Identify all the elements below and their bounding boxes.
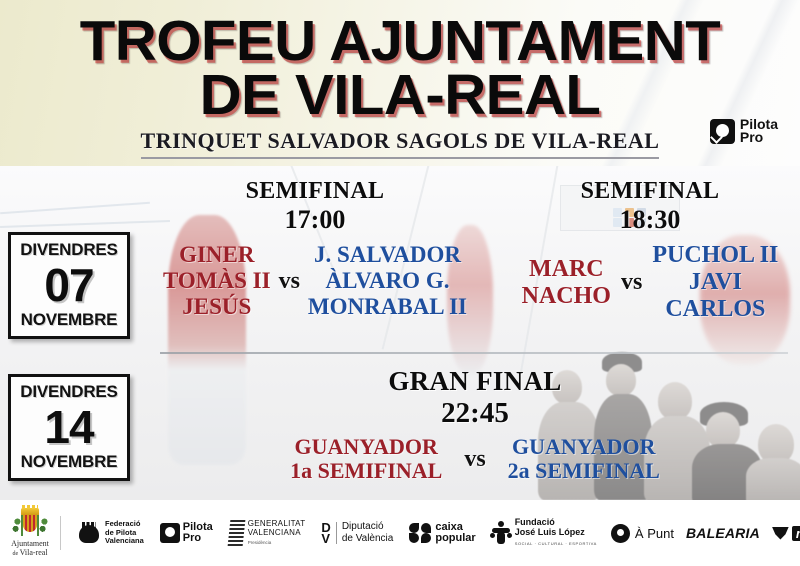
- semifinal-1-team-red: GINER TOMÀS II JESÚS: [163, 242, 271, 320]
- federacio-label: Federació de Pilota Valenciana: [105, 520, 144, 546]
- player-name: JAVI: [652, 269, 778, 296]
- final-team-blue: GUANYADOR 2a SEMIFINAL: [508, 435, 660, 483]
- semifinal-1-time: 17:00: [140, 205, 490, 235]
- pilota-pro-icon: [710, 119, 735, 144]
- caixa-popular-icon: [409, 523, 431, 543]
- player-name: GUANYADOR: [508, 435, 660, 459]
- pilota-pro-small-label: Pilota Pro: [183, 522, 213, 544]
- semifinal-1-vs: vs: [279, 268, 300, 295]
- semifinal-2-time: 18:30: [500, 205, 800, 235]
- player-name: MONRABAL II: [308, 294, 467, 320]
- player-name: PUCHOL II: [652, 242, 778, 269]
- section-divider: [160, 352, 788, 354]
- semifinal-1-round: SEMIFINAL: [140, 178, 490, 205]
- sponsor-federacio-pilota-valenciana: Federació de Pilota Valenciana: [77, 520, 144, 546]
- sponsor-pilota-pro: Pilota Pro: [160, 522, 213, 544]
- player-name: ÀLVARO G.: [308, 268, 467, 294]
- semifinal-2-team-blue: PUCHOL II JAVI CARLOS: [652, 242, 778, 323]
- semifinal-2-vs: vs: [621, 269, 642, 296]
- fundacio-figures-icon: [490, 521, 512, 545]
- pilota-pro-small-icon: [160, 523, 180, 543]
- semifinal-1-team-blue: J. SALVADOR ÀLVARO G. MONRABAL II: [308, 242, 467, 320]
- semifinal-2-team-red: MARC NACHO: [522, 256, 611, 310]
- diputacio-label: Diputació de València: [342, 521, 394, 545]
- poster-subtitle: TRINQUET SALVADOR SAGOLS DE VILA-REAL: [141, 128, 660, 159]
- balearia-label: BALEARIA: [686, 525, 760, 541]
- player-name: GINER: [163, 242, 271, 268]
- date-2-month: NOVEMBRE: [13, 452, 125, 472]
- ajuntament-line-2: de Vila-real: [10, 548, 50, 559]
- sponsor-a-punt: À Punt: [611, 524, 674, 543]
- diputacio-dv-icon: DV: [321, 522, 330, 544]
- sponsor-ajuntament-vila-real: Ajuntament de Vila-real: [10, 508, 50, 559]
- sponsor-caixa-popular: caixa popular: [409, 522, 475, 544]
- pilota-pro-line-2: Pro: [740, 129, 763, 145]
- pilota-pro-logo: Pilota Pro: [710, 118, 778, 144]
- match-gran-final: GRAN FINAL 22:45 GUANYADOR 1a SEMIFINAL …: [160, 366, 790, 483]
- generalitat-icon: [227, 520, 245, 546]
- generalitat-label: GENERALITAT VALENCIANA Presidència: [248, 519, 306, 547]
- date-box-1: DIVENDRES 07 NOVEMBRE: [8, 232, 130, 339]
- date-1-day: 07: [13, 260, 125, 310]
- date-1-weekday: DIVENDRES: [13, 240, 125, 260]
- player-name: MARC: [522, 256, 611, 283]
- federacio-hand-icon: [77, 521, 101, 545]
- player-name: NACHO: [522, 283, 611, 310]
- title-line-2: DE VILA-REAL: [0, 68, 800, 122]
- diputacio-rule: [336, 522, 337, 544]
- semifinal-2-round: SEMIFINAL: [500, 178, 800, 205]
- final-teams: GUANYADOR 1a SEMIFINAL vs GUANYADOR 2a S…: [160, 435, 790, 483]
- sponsor-fundacio-jose-luis-lopez: Fundació José Luis López SOCIAL · CULTUR…: [490, 517, 597, 549]
- match-semifinal-2: SEMIFINAL 18:30 MARC NACHO vs PUCHOL II …: [500, 178, 800, 323]
- final-team-red: GUANYADOR 1a SEMIFINAL: [290, 435, 442, 483]
- final-vs: vs: [464, 446, 485, 473]
- masymas-icon: [772, 527, 789, 540]
- date-2-day: 14: [13, 402, 125, 452]
- sponsor-divider: [60, 516, 61, 550]
- sponsor-masymas: masymas: [772, 526, 800, 541]
- player-name: 1a SEMIFINAL: [290, 459, 442, 483]
- vila-real-coat-of-arms-icon: [10, 508, 50, 538]
- poster-title: TROFEU AJUNTAMENT DE VILA-REAL: [0, 0, 800, 122]
- player-name: 2a SEMIFINAL: [508, 459, 660, 483]
- fundacio-label: Fundació José Luis López SOCIAL · CULTUR…: [515, 517, 597, 549]
- sponsor-balearia: BALEARIA: [686, 525, 760, 541]
- sponsor-bar: Ajuntament de Vila-real Federació de Pil…: [0, 500, 800, 566]
- a-punt-icon: [611, 524, 630, 543]
- ajuntament-line-1: Ajuntament: [10, 539, 50, 548]
- player-name: J. SALVADOR: [308, 242, 467, 268]
- player-name: CARLOS: [652, 296, 778, 323]
- final-time: 22:45: [160, 397, 790, 429]
- date-1-month: NOVEMBRE: [13, 310, 125, 330]
- masymas-label: masymas: [792, 526, 800, 541]
- date-2-weekday: DIVENDRES: [13, 382, 125, 402]
- date-box-2: DIVENDRES 14 NOVEMBRE: [8, 374, 130, 481]
- poster-subtitle-wrap: TRINQUET SALVADOR SAGOLS DE VILA-REAL: [0, 128, 800, 159]
- poster: TROFEU AJUNTAMENT DE VILA-REAL TRINQUET …: [0, 0, 800, 566]
- final-round: GRAN FINAL: [160, 366, 790, 397]
- sponsor-diputacio-valencia: DV Diputació de València: [321, 521, 393, 545]
- semifinal-1-teams: GINER TOMÀS II JESÚS vs J. SALVADOR ÀLVA…: [140, 242, 490, 320]
- pilota-pro-logo-text: Pilota Pro: [740, 118, 778, 144]
- caixa-popular-label: caixa popular: [435, 522, 475, 544]
- a-punt-label: À Punt: [635, 526, 674, 541]
- player-name: JESÚS: [163, 294, 271, 320]
- poster-header: TROFEU AJUNTAMENT DE VILA-REAL TRINQUET …: [0, 0, 800, 166]
- player-name: TOMÀS II: [163, 268, 271, 294]
- semifinal-2-teams: MARC NACHO vs PUCHOL II JAVI CARLOS: [500, 242, 800, 323]
- sponsor-generalitat-valenciana: GENERALITAT VALENCIANA Presidència: [229, 519, 306, 547]
- player-name: GUANYADOR: [290, 435, 442, 459]
- match-semifinal-1: SEMIFINAL 17:00 GINER TOMÀS II JESÚS vs …: [140, 178, 490, 320]
